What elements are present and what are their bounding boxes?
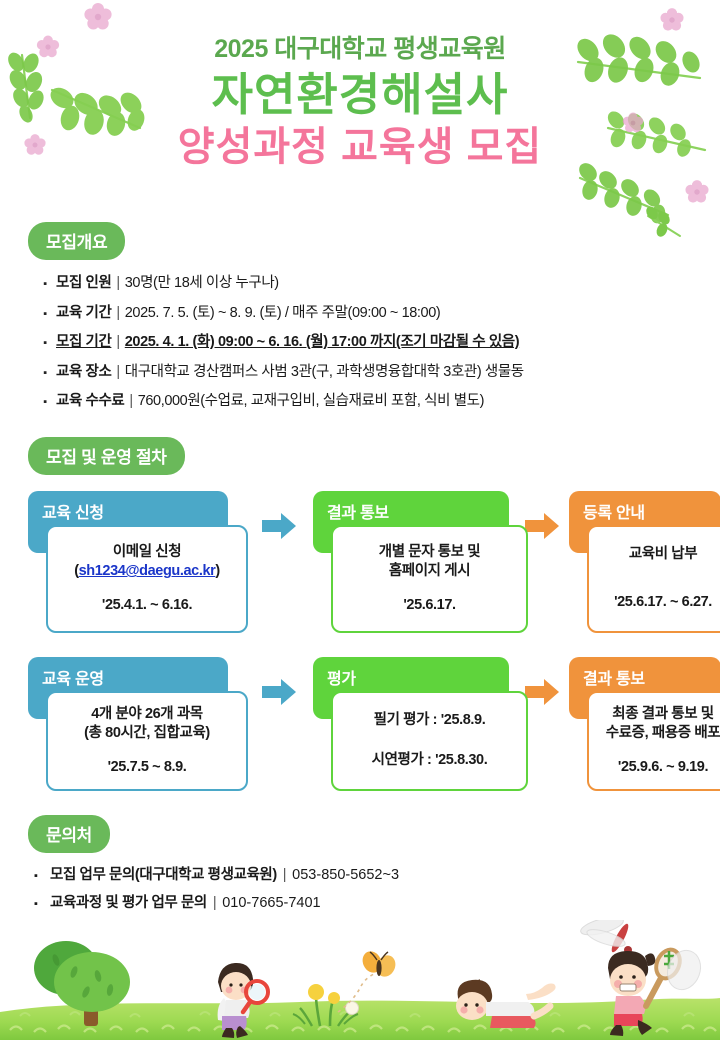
process-step-education-operation: 교육 운영 4개 분야 26개 과목 (총 80시간, 집합교육) '25.7.… <box>28 657 248 719</box>
overview-list: ▪ 모집 인원 | 30명(만 18세 이상 누구나) ▪ 교육 기간 | 20… <box>28 276 692 409</box>
separator: | <box>111 335 124 350</box>
section-recruitment-overview: 모집개요 ▪ 모집 인원 | 30명(만 18세 이상 누구나) ▪ 교육 기간… <box>28 222 692 424</box>
process-step-body: 개별 문자 통보 및 홈페이지 게시 '25.6.17. <box>331 525 528 633</box>
dragonfly-icon <box>579 920 632 954</box>
list-item: ▪ 모집 인원 | 30명(만 18세 이상 누구나) <box>28 276 692 291</box>
arrow-right-icon <box>525 513 559 539</box>
overview-label: 교육 기간 <box>56 306 111 321</box>
paren-close: ) <box>215 563 219 579</box>
section-contact: 문의처 ▪ 모집 업무 문의(대구대학교 평생교육원) | 053-850-56… <box>28 815 692 923</box>
overview-label: 교육 수수료 <box>56 394 124 409</box>
bullet-icon: ▪ <box>28 368 56 379</box>
list-item: ▪ 교육 장소 | 대구대학교 경산캠퍼스 사범 3관(구, 과학생명융합대학 … <box>28 365 692 380</box>
application-email-link[interactable]: sh1234@daegu.ac.kr <box>79 563 216 579</box>
contact-phone: 053-850-5652~3 <box>292 868 399 883</box>
contact-label: 교육과정 및 평가 업무 문의 <box>50 896 207 911</box>
overview-value: 대구대학교 경산캠퍼스 사범 3관(구, 과학생명융합대학 3호관) 생물동 <box>125 365 524 380</box>
separator: | <box>111 306 124 321</box>
list-item: ▪ 교육과정 및 평가 업무 문의 | 010-7665-7401 <box>28 896 692 911</box>
process-date-line: '25.4.1. ~ 6.16. <box>54 596 240 616</box>
process-body-line: 교육비 납부 <box>595 545 720 565</box>
separator: | <box>124 394 137 409</box>
bullet-icon: ▪ <box>34 899 50 910</box>
list-item: ▪ 교육 기간 | 2025. 7. 5. (토) ~ 8. 9. (토) / … <box>28 306 692 321</box>
list-item: ▪ 모집 업무 문의(대구대학교 평생교육원) | 053-850-5652~3 <box>28 868 692 883</box>
process-badge: 모집 및 운영 절차 <box>28 437 185 475</box>
arrow-right-icon <box>262 679 296 705</box>
process-step-body: 최종 결과 통보 및 수료증, 패용증 배포 '25.9.6. ~ 9.19. <box>587 691 720 791</box>
process-date-line: '25.6.17. <box>339 596 520 616</box>
process-step-registration-guide: 등록 안내 교육비 납부 '25.6.17. ~ 6.27. <box>569 491 720 553</box>
separator: | <box>111 365 124 380</box>
contact-list: ▪ 모집 업무 문의(대구대학교 평생교육원) | 053-850-5652~3… <box>28 868 692 910</box>
process-step-evaluation: 평가 필기 평가 : '25.8.9. 시연평가 : '25.8.30. <box>313 657 528 719</box>
separator: | <box>111 276 124 291</box>
process-step-final-result-notice: 결과 통보 최종 결과 통보 및 수료증, 패용증 배포 '25.9.6. ~ … <box>569 657 720 719</box>
process-step-body: 이메일 신청 (sh1234@daegu.ac.kr) '25.4.1. ~ 6… <box>46 525 248 633</box>
separator: | <box>207 896 222 911</box>
process-body-line: (총 80시간, 집합교육) <box>54 724 240 744</box>
overview-label: 교육 장소 <box>56 365 111 380</box>
contact-label: 모집 업무 문의(대구대학교 평생교육원) <box>50 868 277 883</box>
process-body-line: 필기 평가 : '25.8.9. <box>339 711 520 731</box>
process-body-line: 홈페이지 게시 <box>339 562 520 582</box>
overview-badge: 모집개요 <box>28 222 125 260</box>
overview-value: 760,000원(수업료, 교재구입비, 실습재료비 포함, 식비 별도) <box>138 394 484 409</box>
process-step-education-application: 교육 신청 이메일 신청 (sh1234@daegu.ac.kr) '25.4.… <box>28 491 248 553</box>
process-row-1: 교육 신청 이메일 신청 (sh1234@daegu.ac.kr) '25.4.… <box>28 491 692 641</box>
arrow-right-icon <box>525 679 559 705</box>
process-body-line: 4개 분야 26개 과목 <box>54 705 240 725</box>
process-body-line: 시연평가 : '25.8.30. <box>339 751 520 771</box>
process-body-line: 최종 결과 통보 및 <box>595 705 720 725</box>
bullet-icon: ▪ <box>28 338 56 349</box>
separator: | <box>277 868 292 883</box>
overview-value: 2025. 4. 1. (화) 09:00 ~ 6. 16. (월) 17:00… <box>125 335 519 350</box>
process-date-line: '25.7.5 ~ 8.9. <box>54 758 240 778</box>
footer-illustration <box>0 920 720 1040</box>
list-item: ▪ 교육 수수료 | 760,000원(수업료, 교재구입비, 실습재료비 포함… <box>28 394 692 409</box>
process-step-result-notice: 결과 통보 개별 문자 통보 및 홈페이지 게시 '25.6.17. <box>313 491 528 553</box>
process-body-line: 개별 문자 통보 및 <box>339 543 520 563</box>
contact-phone: 010-7665-7401 <box>222 896 320 911</box>
process-date-line: '25.9.6. ~ 9.19. <box>595 758 720 778</box>
poster-pretitle: 2025 대구대학교 평생교육원 <box>0 34 720 64</box>
butterfly-net-icon <box>646 943 706 1006</box>
arrow-right-icon <box>262 513 296 539</box>
process-step-body: 필기 평가 : '25.8.9. 시연평가 : '25.8.30. <box>331 691 528 791</box>
overview-label: 모집 기간 <box>56 335 111 350</box>
bullet-icon: ▪ <box>34 871 50 882</box>
contact-badge: 문의처 <box>28 815 110 853</box>
process-email-line: (sh1234@daegu.ac.kr) <box>54 562 240 582</box>
overview-label: 모집 인원 <box>56 276 111 291</box>
process-step-body: 4개 분야 26개 과목 (총 80시간, 집합교육) '25.7.5 ~ 8.… <box>46 691 248 791</box>
bullet-icon: ▪ <box>28 309 56 320</box>
overview-value: 2025. 7. 5. (토) ~ 8. 9. (토) / 매주 주말(09:0… <box>125 306 441 321</box>
bullet-icon: ▪ <box>28 397 56 408</box>
process-row-2: 교육 운영 4개 분야 26개 과목 (총 80시간, 집합교육) '25.7.… <box>28 657 692 807</box>
section-process: 모집 및 운영 절차 교육 신청 이메일 신청 (sh1234@daegu.ac… <box>28 437 692 807</box>
overview-value: 30명(만 18세 이상 누구나) <box>125 276 279 291</box>
poster-header: 2025 대구대학교 평생교육원 자연환경해설사 양성과정 교육생 모집 <box>0 0 720 212</box>
list-item: ▪ 모집 기간 | 2025. 4. 1. (화) 09:00 ~ 6. 16.… <box>28 335 692 350</box>
process-body-line: 이메일 신청 <box>54 543 240 563</box>
process-date-line: '25.6.17. ~ 6.27. <box>595 593 720 613</box>
process-step-body: 교육비 납부 '25.6.17. ~ 6.27. <box>587 525 720 633</box>
bullet-icon: ▪ <box>28 279 56 290</box>
poster-title-main: 자연환경해설사 <box>0 68 720 121</box>
process-body-line: 수료증, 패용증 배포 <box>595 724 720 744</box>
poster-title-sub: 양성과정 교육생 모집 <box>0 123 720 171</box>
process-rows: 교육 신청 이메일 신청 (sh1234@daegu.ac.kr) '25.4.… <box>28 491 692 807</box>
